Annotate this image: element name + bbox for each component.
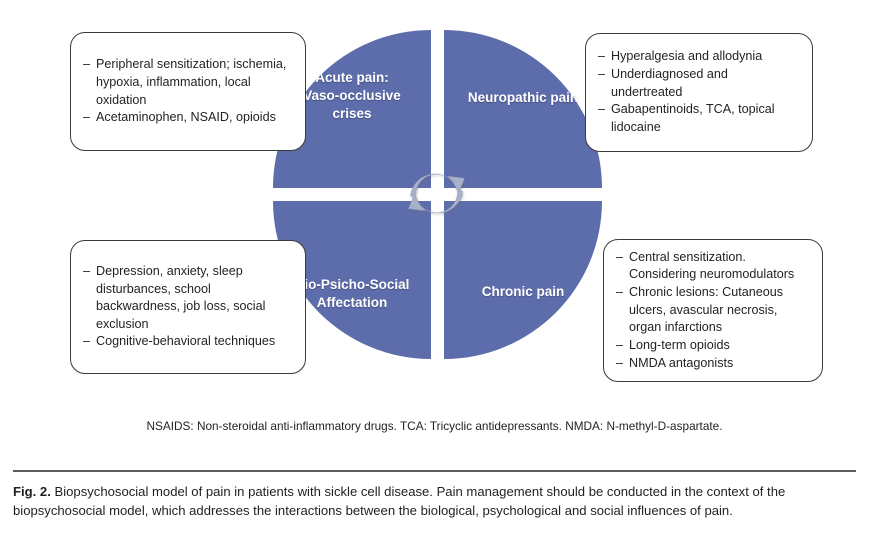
bio-psycho-social-callout-list: Depression, anxiety, sleep disturbances,… — [83, 263, 293, 351]
figure-caption-label: Fig. 2. — [13, 484, 51, 499]
wheel-quadrant-neuropathic-pain[interactable]: Neuropathic pain — [444, 30, 602, 188]
acute-pain-callout-list: Peripheral sensitization; ischemia, hypo… — [83, 56, 293, 127]
callout-list-item: Peripheral sensitization; ischemia, hypo… — [83, 56, 293, 109]
biopsychosocial-wheel: Acute pain:Vaso-occlusivecrises Neuropat… — [273, 30, 602, 359]
wheel-quadrant-neuropathic-pain-label: Neuropathic pain — [458, 89, 588, 107]
chronic-pain-callout-list: Central sensitization. Considering neuro… — [616, 249, 810, 372]
neuropathic-pain-callout: Hyperalgesia and allodyniaUnderdiagnosed… — [585, 33, 813, 152]
wheel-quadrant-chronic-pain[interactable]: Chronic pain — [444, 201, 602, 359]
wheel-quadrant-chronic-pain-label: Chronic pain — [472, 283, 575, 301]
acute-pain-callout: Peripheral sensitization; ischemia, hypo… — [70, 32, 306, 151]
chronic-pain-callout: Central sensitization. Considering neuro… — [603, 239, 823, 382]
callout-list-item: Depression, anxiety, sleep disturbances,… — [83, 263, 293, 334]
abbreviations-footnote: NSAIDS: Non-steroidal anti-inflammatory … — [0, 419, 869, 433]
callout-list-item: Cognitive-behavioral techniques — [83, 333, 293, 351]
callout-list-item: Long-term opioids — [616, 337, 810, 355]
callout-list-item: Underdiagnosed and undertreated — [598, 66, 800, 101]
callout-list-item: Central sensitization. Considering neuro… — [616, 249, 810, 284]
callout-list-item: Chronic lesions: Cutaneous ulcers, avasc… — [616, 284, 810, 337]
caption-divider — [13, 470, 856, 472]
figure-caption: Fig. 2. Biopsychosocial model of pain in… — [13, 483, 856, 520]
callout-list-item: Hyperalgesia and allodynia — [598, 48, 800, 66]
callout-list-item: Acetaminophen, NSAID, opioids — [83, 109, 293, 127]
callout-list-item: NMDA antagonists — [616, 355, 810, 373]
wheel-quadrant-acute-pain-label: Acute pain:Vaso-occlusivecrises — [293, 69, 411, 122]
neuropathic-pain-callout-list: Hyperalgesia and allodyniaUnderdiagnosed… — [598, 48, 800, 136]
bio-psycho-social-callout: Depression, anxiety, sleep disturbances,… — [70, 240, 306, 374]
figure-canvas: Acute pain:Vaso-occlusivecrises Neuropat… — [0, 0, 869, 470]
figure-caption-text: Biopsychosocial model of pain in patient… — [13, 484, 785, 518]
callout-list-item: Gabapentinoids, TCA, topical lidocaine — [598, 101, 800, 136]
